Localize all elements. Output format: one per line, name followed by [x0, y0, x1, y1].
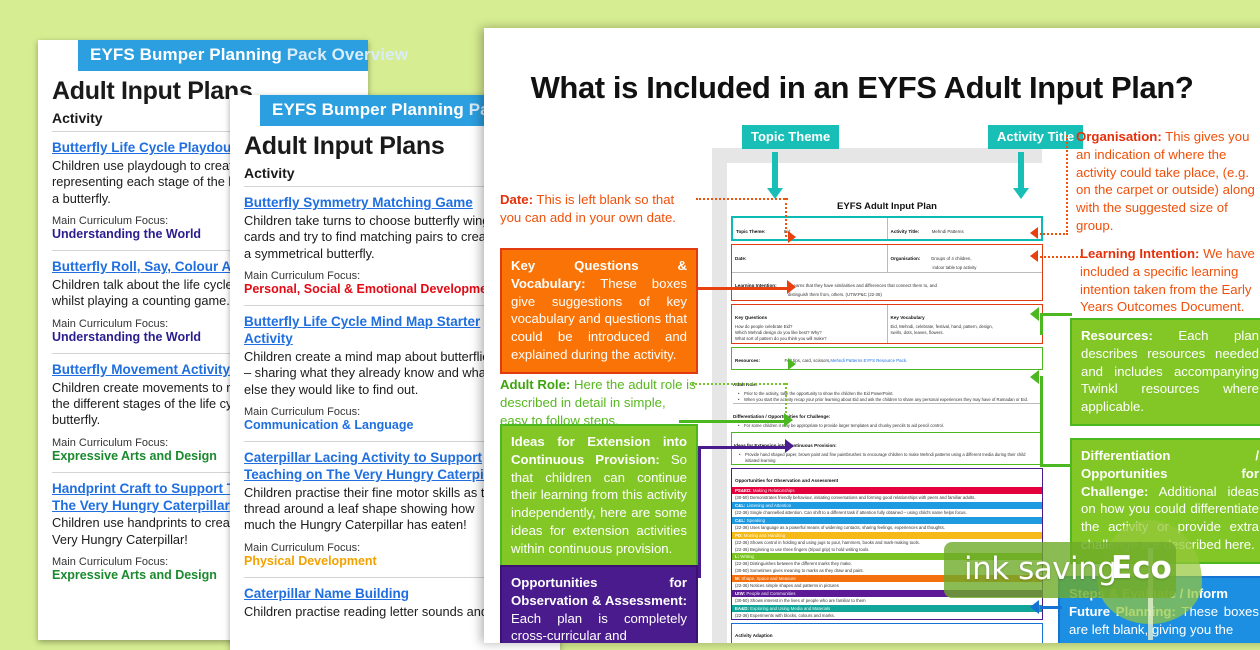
note-learning-intention: Learning Intention: We have included a s… [1080, 245, 1260, 316]
note-text: This gives you an indication of where th… [1076, 129, 1255, 233]
learning-intention-value-2: distinguish them from, others. (UTW:P&C … [788, 292, 1039, 298]
key-question: What sort of pattern do you think you wi… [735, 336, 884, 342]
key-vocabulary-label: Key Vocabulary [891, 315, 925, 320]
organisation-value-2: indoor table top activity [933, 265, 1040, 271]
observation-statement: (22-36) Experiments with blocks, colours… [732, 612, 1042, 620]
area-code: PD: [735, 533, 743, 538]
observation-area-header: PS&ED: Making Relationships [732, 487, 1042, 494]
mini-row-resources: Resources: Felt tips, card, scissors, Me… [731, 347, 1043, 370]
note-strong: Learning Intention: [1080, 246, 1199, 261]
connector-dotted [696, 198, 788, 200]
tag-arrowhead [1013, 188, 1029, 199]
sheet-header-band: EYFS Bumper Planning Pack Overview [78, 40, 368, 71]
band-light-text: Pack Overview [287, 45, 408, 64]
area-code: C&L: [735, 518, 746, 523]
connector-arrowhead [788, 231, 796, 243]
key-questions-label: Key Questions [735, 315, 767, 320]
mini-row-topic-activity: Topic Theme: Eid Activity Title: Mehndi … [731, 216, 1043, 241]
connector-dotted [692, 383, 788, 385]
differentiation-block: Differentiation / Opportunities for Chal… [731, 405, 1043, 429]
observation-statement: (22-36) Single channelled attention. Can… [732, 509, 1042, 517]
band-strong-text: EYFS Bumper Planning [90, 45, 282, 64]
observation-area-header: C&L: Listening and Attention [732, 502, 1042, 509]
date-label: Date: [735, 256, 747, 261]
resources-link[interactable]: Mehndi Patterns EYFS Resource Pack. [830, 358, 907, 363]
connector-line [1040, 376, 1043, 466]
extension-bullet: Provide hand shaped paper, brown paint a… [734, 452, 1040, 463]
observation-area-header: EA&D: Exploring and Using Media and Mate… [732, 605, 1042, 612]
key-vocabulary-line: swirls, dots, leaves, flowers. [891, 330, 1040, 336]
organisation-value-1: Groups of 4 children, [931, 256, 972, 261]
adult-role-bullet: When you start the activity recap your p… [733, 397, 1041, 403]
mini-row-activity-adaption: Activity Adaption [731, 623, 1043, 643]
note-strong: Resources: [1081, 328, 1153, 343]
note-strong: Opportunities for Observation & Assessme… [511, 575, 687, 608]
area-code: EA&D: [735, 606, 749, 611]
connector-dotted [1066, 135, 1068, 235]
area-code: M: [735, 576, 740, 581]
differentiation-bullet: For some children it may be appropriate … [733, 423, 1041, 429]
note-text: So that children can continue their lear… [511, 452, 687, 556]
connector-dotted [1040, 256, 1082, 258]
area-aspect: Moving and Handling [744, 533, 785, 538]
activity-title-label: Activity Title: [891, 229, 920, 234]
connector-arrowhead [788, 358, 796, 370]
area-aspect: Listening and Attention [747, 503, 791, 508]
area-code: L: [735, 554, 739, 559]
badge-text: ink saving [964, 551, 1117, 587]
note-ideas-for-extension: Ideas for Extension into Continuous Prov… [500, 424, 698, 568]
tag-stem [772, 152, 778, 190]
area-code: PS&ED: [735, 488, 752, 493]
connector-line [1040, 313, 1043, 335]
topic-theme-label: Topic Theme: [736, 229, 766, 234]
connector-arrowhead [785, 439, 794, 453]
area-aspect: Writing [740, 554, 754, 559]
connector-dotted [1040, 233, 1068, 235]
note-organisation: Organisation: This gives you an indicati… [1076, 128, 1260, 235]
tag-stem [1018, 152, 1024, 190]
connector-arrowhead [1030, 370, 1039, 384]
callout-tag-activity-title: Activity Title [988, 125, 1083, 149]
area-code: UtW: [735, 591, 745, 596]
area-code: C&L: [735, 503, 746, 508]
note-key-questions-vocabulary: Key Questions & Vocabulary: These boxes … [500, 248, 698, 374]
connector-line [698, 446, 701, 578]
organisation-label: Organisation: [891, 256, 921, 261]
connector-arrowhead [784, 413, 793, 427]
connector-dotted [785, 198, 787, 237]
area-aspect: Speaking [747, 518, 765, 523]
connector-line [698, 446, 788, 449]
connector-arrowhead [1030, 307, 1039, 321]
page-title: What is Included in an EYFS Adult Input … [512, 70, 1212, 106]
note-strong: Organisation: [1076, 129, 1162, 144]
area-aspect: Making Relationships [753, 488, 795, 493]
observation-label: Opportunities for Observation and Assess… [732, 477, 841, 484]
mini-plan-title: EYFS Adult Input Plan [727, 201, 1047, 212]
badge-word-eco: Eco [1111, 550, 1172, 586]
observation-area-header: PD: Moving and Handling [732, 532, 1042, 539]
connector-arrowhead [787, 280, 796, 294]
note-date: Date: This is left blank so that you can… [500, 191, 696, 227]
observation-statement: (22-36) Uses language as a powerful mean… [732, 524, 1042, 532]
area-aspect: Shape, Space and Measure [741, 576, 795, 581]
mini-row-date-organisation: Date: Organisation: Groups of 4 children… [731, 244, 1043, 301]
activity-adaption-label: Activity Adaption [732, 631, 776, 640]
note-text: Each plan is completely cross-curricular… [511, 611, 687, 643]
observation-statement: (30-50) Demonstrates friendly behaviour,… [732, 494, 1042, 502]
callout-tag-topic-theme: Topic Theme [742, 125, 839, 149]
connector-line [1040, 606, 1062, 609]
divider [733, 403, 1041, 404]
connector-arrowhead [1030, 250, 1038, 262]
ink-saving-eco-badge: ink saving Eco [944, 542, 1204, 598]
resources-label: Resources: [735, 358, 760, 363]
connector-line [1040, 464, 1072, 467]
note-adult-role: Adult Role: Here the adult role is descr… [500, 376, 696, 429]
learning-intention-value-1: Learns that they have similarities and d… [791, 283, 937, 288]
note-opportunities-observation: Opportunities for Observation & Assessme… [500, 565, 698, 643]
connector-line [1040, 313, 1072, 316]
differentiation-label: Differentiation / Opportunities for Chal… [733, 414, 830, 419]
connector-line [679, 420, 785, 423]
note-strong: Date: [500, 192, 533, 207]
connector-arrowhead [1030, 600, 1039, 614]
connector-line [698, 287, 788, 290]
mini-row-key-questions: Key Questions How do people celebrate Ei… [731, 304, 1043, 344]
observation-area-header: C&L: Speaking [732, 517, 1042, 524]
adult-role-block: Adult Role: Prior to the activity, take … [731, 373, 1043, 402]
connector-arrowhead [1030, 227, 1038, 239]
note-strong: Adult Role: [500, 377, 570, 392]
activity-title-value: Mehndi Patterns [932, 229, 964, 234]
band-strong-text: EYFS Bumper Planning [272, 100, 464, 119]
area-aspect: People and Communities [746, 591, 795, 596]
note-resources: Resources: Each plan describes resources… [1070, 318, 1260, 426]
area-aspect: Exploring and Using Media and Materials [750, 606, 830, 611]
